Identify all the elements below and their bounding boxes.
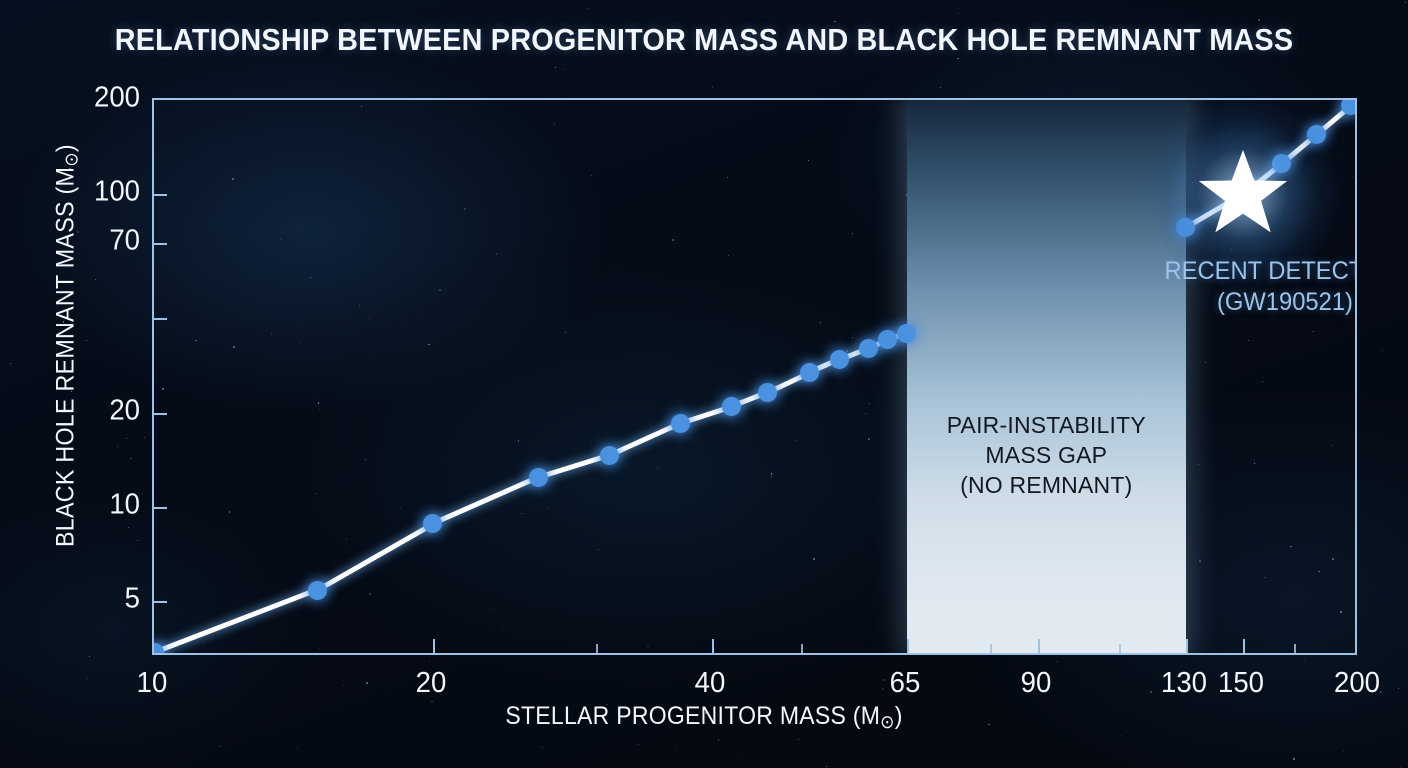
gap-label-line-3: (NO REMNANT) <box>907 470 1186 500</box>
y-axis-tick <box>154 194 167 196</box>
x-axis-label: 90 <box>1020 667 1051 700</box>
y-axis-tick <box>154 413 167 415</box>
x-axis-label: 40 <box>694 667 725 700</box>
x-axis-minor-tick <box>1294 644 1296 653</box>
y-axis-label: 100 <box>74 176 141 209</box>
chart-title: RELATIONSHIP BETWEEN PROGENITOR MASS AND… <box>49 22 1358 58</box>
sun-symbol-icon: ⊙ <box>880 711 895 732</box>
data-point-marker <box>600 446 619 465</box>
data-point-marker <box>830 350 849 369</box>
x-axis-title: STELLAR PROGENITOR MASS (M⊙) <box>56 702 1351 733</box>
y-axis-label: 10 <box>74 488 141 521</box>
data-point-marker <box>529 468 548 487</box>
x-axis-minor-tick <box>596 644 598 653</box>
data-point-marker <box>423 514 442 533</box>
series-line-segment <box>608 421 681 458</box>
gap-label-line-2: MASS GAP <box>907 440 1186 470</box>
data-point-marker <box>1176 218 1195 237</box>
series-line-segment <box>153 588 318 655</box>
data-point-marker <box>878 330 897 349</box>
x-axis-tick <box>433 639 435 653</box>
y-axis-title-text: BLACK HOLE REMNANT MASS (M <box>51 167 79 547</box>
data-point-marker <box>1307 125 1326 144</box>
x-axis-title-close: ) <box>895 702 903 730</box>
series-line-segment <box>538 453 610 480</box>
data-point-marker <box>800 363 819 382</box>
y-axis-label: 5 <box>74 582 141 615</box>
y-axis-tick <box>154 507 167 509</box>
recent-detection-star-icon <box>1195 146 1291 242</box>
x-axis-label: 20 <box>415 667 446 700</box>
recent-detection-annotation: RECENT DETECTION (GW190521) <box>1165 256 1357 318</box>
x-axis-tick <box>712 639 714 653</box>
pair-instability-band <box>907 100 1186 653</box>
data-point-marker <box>1341 98 1357 115</box>
y-axis-label: 70 <box>74 224 141 257</box>
y-axis-tick <box>154 601 167 603</box>
y-axis-label: 20 <box>74 394 141 427</box>
pair-instability-band-label: PAIR-INSTABILITY MASS GAP (NO REMNANT) <box>907 410 1186 500</box>
y-axis-tick <box>154 243 167 245</box>
sun-symbol-icon: ⊙ <box>61 152 82 167</box>
x-axis-tick <box>1186 639 1188 653</box>
y-axis-label: 200 <box>74 82 141 115</box>
x-axis-minor-tick <box>1119 644 1121 653</box>
x-axis-title-text: STELLAR PROGENITOR MASS (M <box>505 702 880 730</box>
x-axis-label: 130 <box>1161 667 1207 700</box>
x-axis-label: 200 <box>1334 667 1380 700</box>
data-point-marker <box>152 643 164 655</box>
x-axis-tick <box>1243 639 1245 653</box>
series-line-segment <box>316 522 434 593</box>
chart-figure: RELATIONSHIP BETWEEN PROGENITOR MASS AND… <box>0 0 1408 768</box>
data-point-marker <box>308 581 327 600</box>
x-axis-label: 65 <box>890 667 921 700</box>
plot-area: PAIR-INSTABILITY MASS GAP (NO REMNANT) R… <box>152 98 1357 655</box>
annotation-line-2: (GW190521) <box>1165 287 1357 318</box>
x-axis-label: 150 <box>1218 667 1264 700</box>
data-point-marker <box>671 414 690 433</box>
x-axis-label: 10 <box>137 667 168 700</box>
series-line-segment <box>432 475 540 526</box>
x-axis-tick <box>907 639 909 653</box>
x-axis-minor-tick <box>990 644 992 653</box>
x-axis-minor-tick <box>801 644 803 653</box>
y-axis-title-close: ) <box>51 144 79 152</box>
data-point-marker <box>722 397 741 416</box>
annotation-line-1: RECENT DETECTION <box>1165 256 1357 287</box>
data-point-marker <box>758 383 777 402</box>
y-axis-title: BLACK HOLE REMNANT MASS (M⊙) <box>51 104 82 588</box>
x-axis-tick <box>1038 639 1040 653</box>
y-axis-tick <box>154 318 167 320</box>
gap-label-line-1: PAIR-INSTABILITY <box>907 410 1186 440</box>
data-point-marker <box>859 339 878 358</box>
